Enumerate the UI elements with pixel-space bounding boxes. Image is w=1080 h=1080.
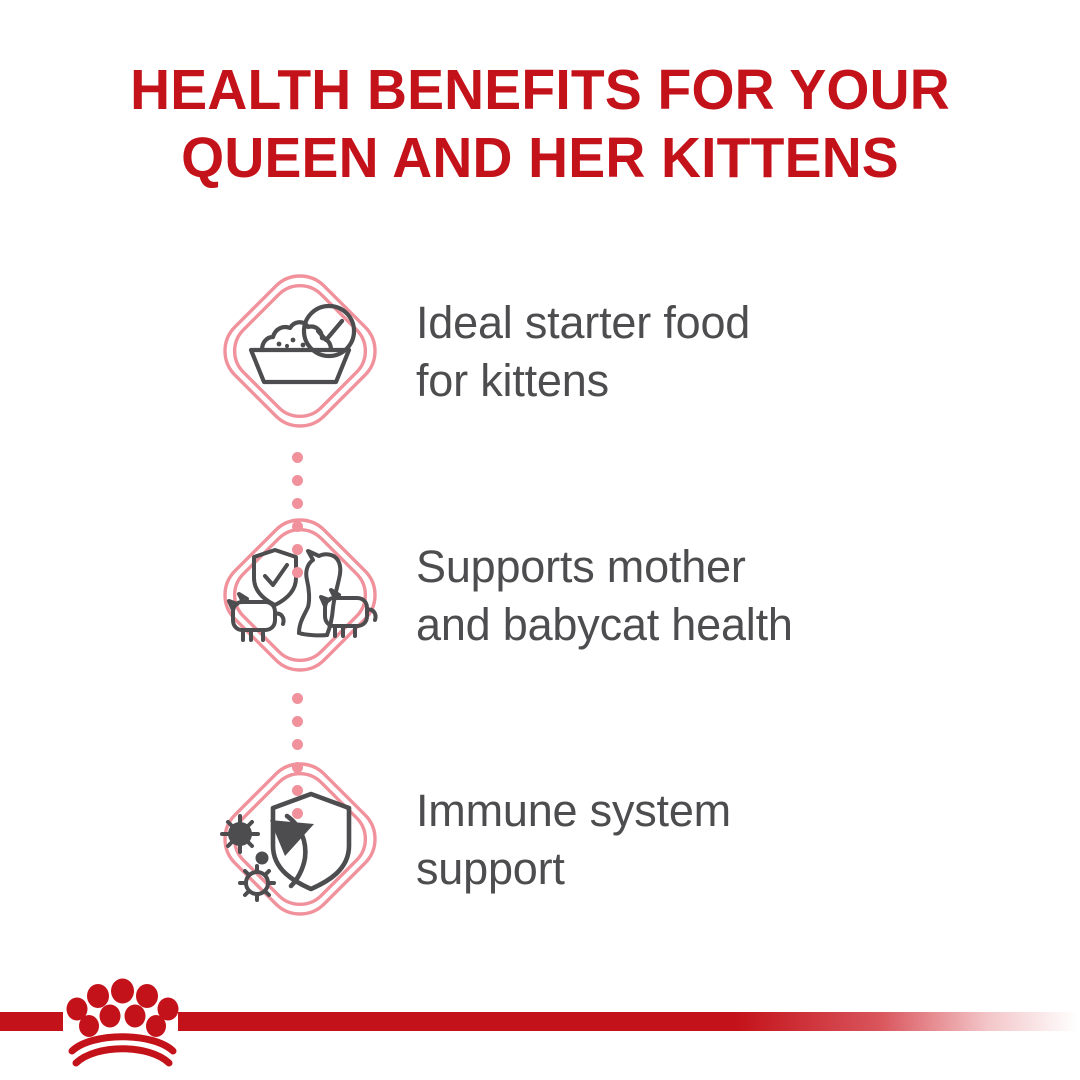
footer-bar-right <box>178 1012 1078 1031</box>
footer-bar-left <box>0 1012 63 1031</box>
connector-dot <box>292 808 303 819</box>
benefit-item-immune-support: Immune system support <box>0 746 1080 934</box>
benefit-item-ideal-starter-food: Ideal starter food for kittens <box>0 258 1080 446</box>
food-bowl-check-icon <box>207 258 393 444</box>
immune-shield-virus-icon <box>207 746 393 932</box>
connector-dot <box>292 544 303 555</box>
benefit-label-immune-support: Immune system support <box>416 782 976 898</box>
connector-dot <box>292 567 303 578</box>
connector-dot <box>292 716 303 727</box>
benefit-label-supports-mother: Supports mother and babycat health <box>416 538 976 654</box>
benefit-item-supports-mother: Supports mother and babycat health <box>0 502 1080 690</box>
benefit-label-line-2: and babycat health <box>416 596 976 654</box>
connector-dot <box>292 452 303 463</box>
page-title: HEALTH BENEFITS FOR YOUR QUEEN AND HER K… <box>0 56 1080 192</box>
footer <box>0 968 1080 1080</box>
royal-canin-crown-icon <box>60 968 185 1076</box>
connector-dot <box>292 762 303 773</box>
connector-dots-1 <box>292 452 303 463</box>
benefit-label-line-2: for kittens <box>416 352 976 410</box>
benefit-label-line-1: Supports mother <box>416 538 976 596</box>
connector-dot <box>292 693 303 704</box>
page-title-line-1: HEALTH BENEFITS FOR YOUR <box>16 56 1064 124</box>
connector-dot <box>292 739 303 750</box>
connector-dot <box>292 785 303 796</box>
page-title-line-2: QUEEN AND HER KITTENS <box>16 124 1064 192</box>
benefits-list: Ideal starter food for kittens <box>0 258 1080 934</box>
connector-dot <box>292 521 303 532</box>
benefit-label-ideal-starter-food: Ideal starter food for kittens <box>416 294 976 410</box>
benefit-label-line-1: Immune system <box>416 782 976 840</box>
benefit-label-line-1: Ideal starter food <box>416 294 976 352</box>
connector-dot <box>292 498 303 509</box>
benefit-label-line-2: support <box>416 840 976 898</box>
connector-dots-2 <box>292 693 303 704</box>
connector-dot <box>292 475 303 486</box>
